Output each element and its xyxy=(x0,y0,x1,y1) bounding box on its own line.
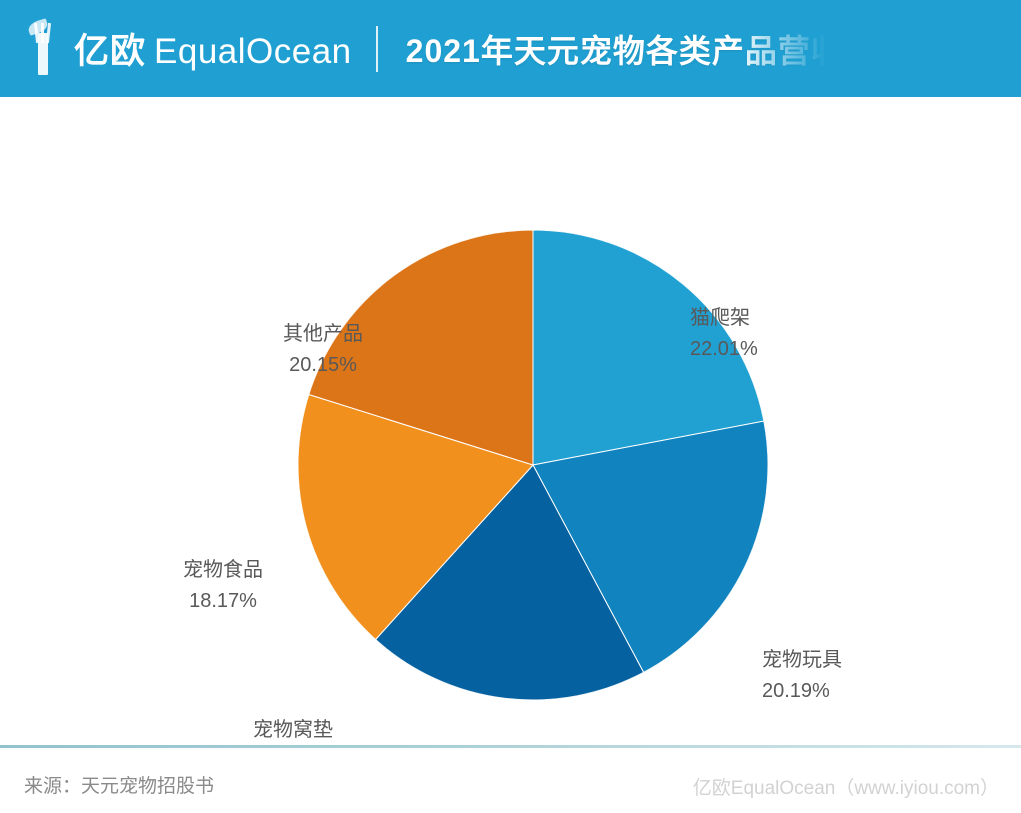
pie-label-cat-tree: 猫爬架 22.01% xyxy=(690,303,758,365)
pie-graphic xyxy=(298,230,768,700)
source-label: 来源：天元宠物招股书 xyxy=(24,771,214,798)
header-bar: 亿欧EqualOcean 2021年天元宠物各类产品营收占比 xyxy=(0,0,1021,97)
pie-chart xyxy=(298,230,768,700)
footer-brand-label: 亿欧EqualOcean（www.iyiou.com） xyxy=(693,773,999,800)
chart-area: 猫爬架 22.01% 宠物玩具 20.19% 宠物窝垫 19.48% 宠物食品 … xyxy=(0,97,1021,745)
pie-label-pet-toy: 宠物玩具 20.19% xyxy=(762,645,842,707)
pie-label-cat-tree-name: 猫爬架 xyxy=(690,307,750,329)
footer-divider xyxy=(0,745,1021,748)
brand-logo[interactable]: 亿欧EqualOcean xyxy=(22,0,352,97)
pie-label-other-products: 其他产品 20.15% xyxy=(283,319,363,381)
fork-leaf-logo-icon xyxy=(22,19,68,79)
pie-label-other-products-value: 20.15% xyxy=(283,350,363,381)
footer-bar: 来源：天元宠物招股书 亿欧EqualOcean（www.iyiou.com） xyxy=(0,745,1021,813)
pie-label-pet-food-value: 18.17% xyxy=(183,586,263,617)
page-title: 2021年天元宠物各类产品营收占比 xyxy=(406,26,910,72)
brand-logo-text: 亿欧EqualOcean xyxy=(74,23,352,74)
brand-logo-en: EqualOcean xyxy=(154,32,352,71)
brand-logo-cn: 亿欧 xyxy=(74,32,146,71)
pie-label-pet-food: 宠物食品 18.17% xyxy=(183,555,263,617)
pie-label-other-products-name: 其他产品 xyxy=(283,323,363,345)
pie-label-pet-toy-value: 20.19% xyxy=(762,676,842,707)
pie-label-pet-bed-name: 宠物窝垫 xyxy=(253,719,333,741)
pie-svg xyxy=(298,230,768,700)
pie-label-pet-toy-name: 宠物玩具 xyxy=(762,649,842,671)
header-divider xyxy=(376,26,378,72)
pie-label-cat-tree-value: 22.01% xyxy=(690,334,758,365)
pie-label-pet-food-name: 宠物食品 xyxy=(183,559,263,581)
